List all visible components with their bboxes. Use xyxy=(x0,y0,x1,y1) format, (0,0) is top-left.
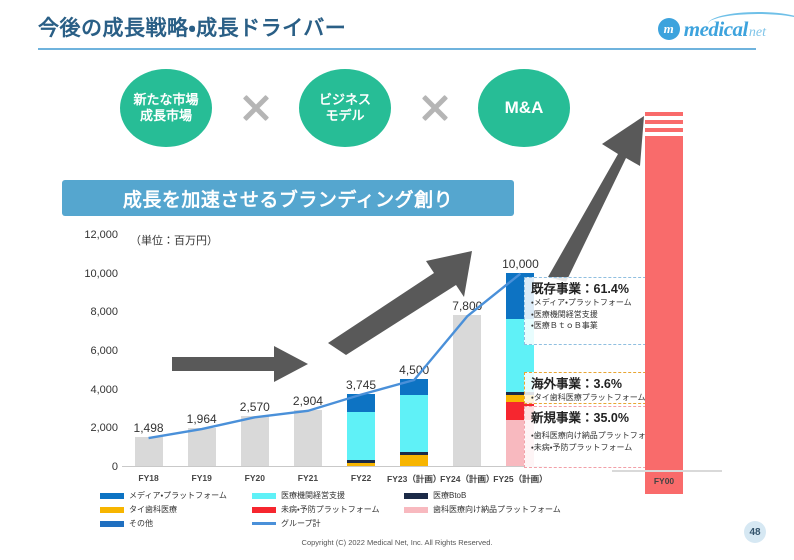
multiply-icon-1 xyxy=(241,93,271,123)
legend-item: 医療機関経営支援 xyxy=(252,490,404,501)
branding-banner: 成長を加速させるブランディング創り xyxy=(62,180,514,216)
callout-existing-business: 既存事業：61.4% ・メディア・プラットフォーム ・医療機関経営支援 ・医療Ｂ… xyxy=(524,277,656,345)
driver-circle-market: 新たな市場成長市場 xyxy=(120,69,212,147)
legend-label: 医療機関経営支援 xyxy=(281,490,345,501)
group-total-line xyxy=(122,235,547,467)
logo-swoosh-icon xyxy=(708,12,794,24)
fy00-bar-body xyxy=(645,136,683,494)
legend-item: タイ歯科医療 xyxy=(100,504,252,515)
legend-item: メディア・プラットフォーム xyxy=(100,490,252,501)
x-axis-label: FY22 xyxy=(351,473,371,483)
legend-item: その他 xyxy=(100,518,252,529)
slide-root: 今後の成長戦略・成長ドライバー m medical net 新たな市場成長市場 … xyxy=(0,0,794,560)
legend-item: 未病・予防プラットフォーム xyxy=(252,504,404,515)
y-axis-tick: 4,000 xyxy=(60,384,118,396)
legend-label: 未病・予防プラットフォーム xyxy=(281,504,379,515)
logo-mark-icon: m xyxy=(658,18,680,40)
callout-line: ・医療ＢｔｏＢ事業 xyxy=(531,320,649,332)
fy00-bar xyxy=(645,112,683,494)
y-axis-tick: 8,000 xyxy=(60,306,118,318)
legend-swatch-icon xyxy=(404,493,428,499)
logo-wordmark: medical net xyxy=(684,17,766,42)
callout-title: 海外事業：3.6% xyxy=(531,376,649,392)
x-axis-label: FY18 xyxy=(138,473,158,483)
legend-label: 歯科医療向け納品プラットフォーム xyxy=(433,504,561,515)
header-divider xyxy=(38,48,756,50)
y-axis-tick: 10,000 xyxy=(60,268,118,280)
x-axis-label: FY25（計画） xyxy=(493,473,547,485)
legend-swatch-icon xyxy=(252,507,276,513)
fy00-break-tick xyxy=(645,120,683,124)
legend-row: タイ歯科医療未病・予防プラットフォーム歯科医療向け納品プラットフォーム xyxy=(100,504,560,515)
callout-overseas-business: 海外事業：3.6% ・タイ歯科医療プラットフォーム xyxy=(524,372,656,404)
fy00-break-tick xyxy=(645,112,683,116)
callout-line: ・歯科医療向け納品プラットフォーム xyxy=(531,430,649,442)
legend-item: 医療BtoB xyxy=(404,490,556,501)
legend-swatch-icon xyxy=(404,507,428,513)
callout-title: 既存事業：61.4% xyxy=(531,281,649,297)
callout-title: 新規事業：35.0% xyxy=(531,410,649,426)
legend-swatch-icon xyxy=(252,522,276,525)
legend-row: メディア・プラットフォーム医療機関経営支援医療BtoB xyxy=(100,490,560,501)
callout-line: ・タイ歯科医療プラットフォーム xyxy=(531,392,649,404)
page-number-badge: 48 xyxy=(744,521,766,543)
multiply-icon-2 xyxy=(420,93,450,123)
callout-line: ・未病・予防プラットフォーム xyxy=(531,442,649,454)
y-axis-tick: 2,000 xyxy=(60,422,118,434)
callout-line: ・医療機関経営支援 xyxy=(531,309,649,321)
trend-arrow-3 xyxy=(540,112,650,282)
company-logo: m medical net xyxy=(658,14,766,44)
y-axis-ticks: 12,00010,0008,0006,0004,0002,0000 xyxy=(60,225,118,470)
fy00-label: FY00 xyxy=(645,476,683,486)
driver-circle-business-model: ビジネスモデル xyxy=(299,69,391,147)
legend-item: 歯科医療向け納品プラットフォーム xyxy=(404,504,556,515)
legend-swatch-icon xyxy=(100,507,124,513)
chart-plot-area: 1,4981,9642,5702,9043,7454,5007,80010,00… xyxy=(122,235,547,467)
page-title: 今後の成長戦略・成長ドライバー xyxy=(38,12,346,42)
legend-label: タイ歯科医療 xyxy=(129,504,177,515)
x-axis-label: FY20 xyxy=(245,473,265,483)
growth-drivers-row: 新たな市場成長市場 ビジネスモデル M&A xyxy=(120,62,570,154)
logo-text-secondary: net xyxy=(749,25,766,41)
copyright-text: Copyright (C) 2022 Medical Net, Inc. All… xyxy=(0,538,794,547)
x-axis-label: FY21 xyxy=(298,473,318,483)
legend-item: グループ計 xyxy=(252,518,404,529)
x-axis-label: FY19 xyxy=(192,473,212,483)
fy00-baseline xyxy=(612,470,722,472)
legend-label: その他 xyxy=(129,518,153,529)
legend-label: グループ計 xyxy=(281,518,321,529)
y-axis-tick: 0 xyxy=(60,461,118,473)
legend-swatch-icon xyxy=(100,493,124,499)
legend-swatch-icon xyxy=(252,493,276,499)
x-axis-label: FY23（計画） xyxy=(387,473,441,485)
legend-label: 医療BtoB xyxy=(433,490,466,501)
legend-label: メディア・プラットフォーム xyxy=(129,490,227,501)
x-axis-label: FY24（計画） xyxy=(440,473,494,485)
fy00-break-tick xyxy=(645,128,683,132)
legend-row: その他グループ計 xyxy=(100,518,560,529)
callout-line: ・メディア・プラットフォーム xyxy=(531,297,649,309)
legend-swatch-icon xyxy=(100,521,124,527)
callout-new-business: 新規事業：35.0% ・歯科医療向け納品プラットフォーム ・未病・予防プラットフ… xyxy=(524,406,656,468)
y-axis-tick: 6,000 xyxy=(60,345,118,357)
x-axis-labels: FY18FY19FY20FY21FY22FY23（計画）FY24（計画）FY25… xyxy=(122,473,547,489)
y-axis-tick: 12,000 xyxy=(60,229,118,241)
trend-polyline xyxy=(149,274,521,438)
chart-legend: メディア・プラットフォーム医療機関経営支援医療BtoBタイ歯科医療未病・予防プラ… xyxy=(100,490,560,532)
